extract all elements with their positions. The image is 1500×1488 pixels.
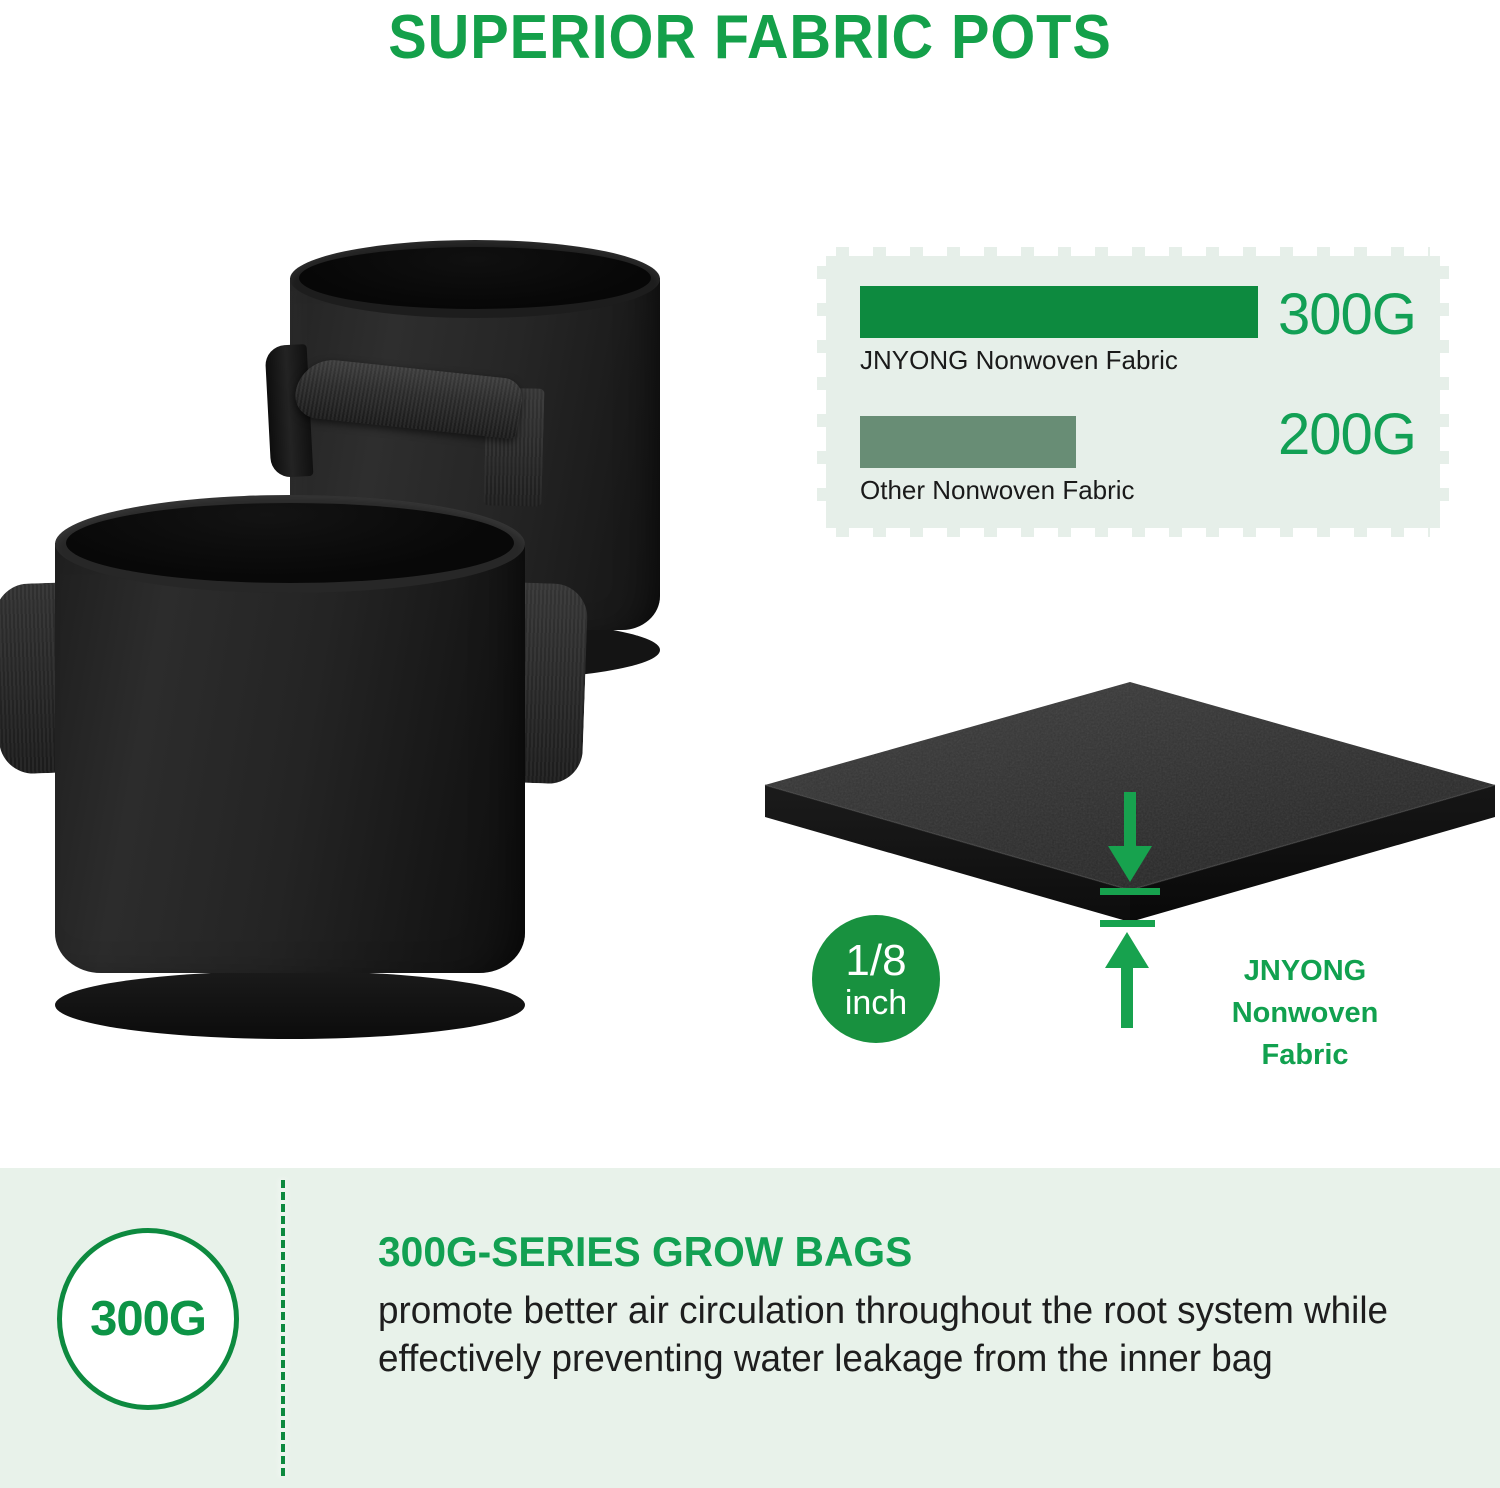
stamp-edge-left [817,266,826,518]
pot-front-body [55,543,525,973]
bar-value-jnyong: 300G [1278,286,1416,344]
arrow-up-icon [1075,920,1165,1030]
fabric-swatch-label: JNYONG Nonwoven Fabric [1155,950,1455,1076]
fabric-pots-photo [0,190,760,1150]
page-title: SUPERIOR FABRIC POTS [53,2,1448,73]
fabric-swatch-label-line-3: Fabric [1155,1034,1455,1076]
pot-front-interior [66,503,514,583]
bar-caption-jnyong: JNYONG Nonwoven Fabric [860,345,1258,376]
pot-front-base [55,971,525,1039]
comparison-row-jnyong: JNYONG Nonwoven Fabric [860,286,1258,376]
fabric-swatch-icon [760,660,1500,930]
comparison-row-other: Other Nonwoven Fabric [860,416,1135,506]
bar-caption-other: Other Nonwoven Fabric [860,475,1135,506]
banner-weight-badge-label: 300G [90,1291,206,1347]
fabric-thickness-diagram [760,660,1500,930]
banner-weight-badge: 300G [57,1228,239,1410]
bar-value-other: 200G [1278,406,1416,464]
pot-back-interior [299,247,651,309]
banner-heading: 300G-SERIES GROW BAGS [378,1228,912,1276]
fabric-swatch-label-line-1: JNYONG [1155,950,1455,992]
fabric-weight-comparison-panel: JNYONG Nonwoven Fabric 300G Other Nonwov… [826,256,1440,528]
pot-back-rim [290,240,660,318]
fabric-swatch-label-line-2: Nonwoven [1155,992,1455,1034]
pot-front-rim [55,495,525,593]
fabric-pot-front [55,495,525,1015]
thickness-badge-fraction: 1/8 [845,939,906,983]
bar-jnyong [860,286,1258,338]
thickness-badge-unit: inch [845,986,907,1020]
stamp-edge-right [1440,266,1449,518]
thickness-badge: 1/8 inch [812,915,940,1043]
banner-dashed-divider [281,1180,285,1476]
banner-body-text: promote better air circulation throughou… [378,1288,1406,1384]
bar-other [860,416,1076,468]
